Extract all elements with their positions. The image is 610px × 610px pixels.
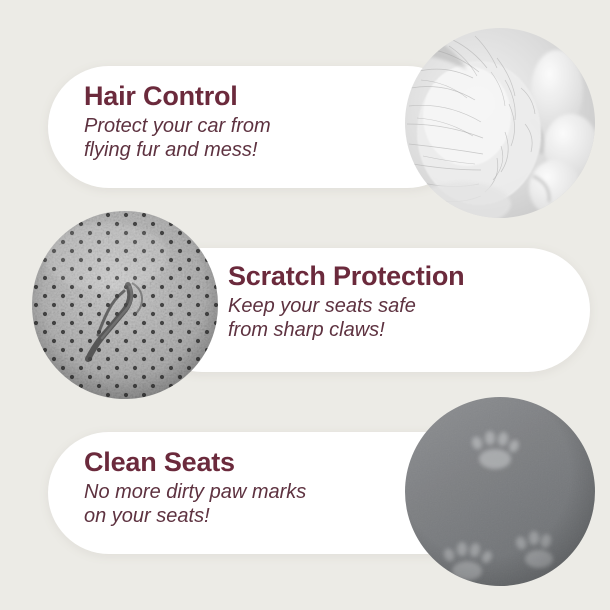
feature-subtitle-line-2: from sharp claws!: [228, 319, 464, 342]
feature-poster: Hair Control Protect your car from flyin…: [0, 0, 610, 610]
feature-text-hair-control: Hair Control Protect your car from flyin…: [84, 82, 271, 162]
feature-title: Hair Control: [84, 82, 271, 111]
feature-subtitle-line-1: Protect your car from: [84, 115, 271, 138]
feature-title: Scratch Protection: [228, 262, 464, 291]
white-pet-fur-in-hand-photo: [405, 28, 595, 218]
scratched-perforated-leather-seat-photo: [32, 211, 218, 399]
feature-subtitle-line-2: on your seats!: [84, 505, 306, 528]
feature-text-scratch-protection: Scratch Protection Keep your seats safe …: [228, 262, 464, 342]
paw-prints-on-gray-seat-photo: [405, 397, 595, 586]
feature-subtitle-line-1: No more dirty paw marks: [84, 481, 306, 504]
feature-title: Clean Seats: [84, 448, 306, 477]
feature-subtitle-line-1: Keep your seats safe: [228, 295, 464, 318]
feature-subtitle-line-2: flying fur and mess!: [84, 139, 271, 162]
feature-text-clean-seats: Clean Seats No more dirty paw marks on y…: [84, 448, 306, 528]
